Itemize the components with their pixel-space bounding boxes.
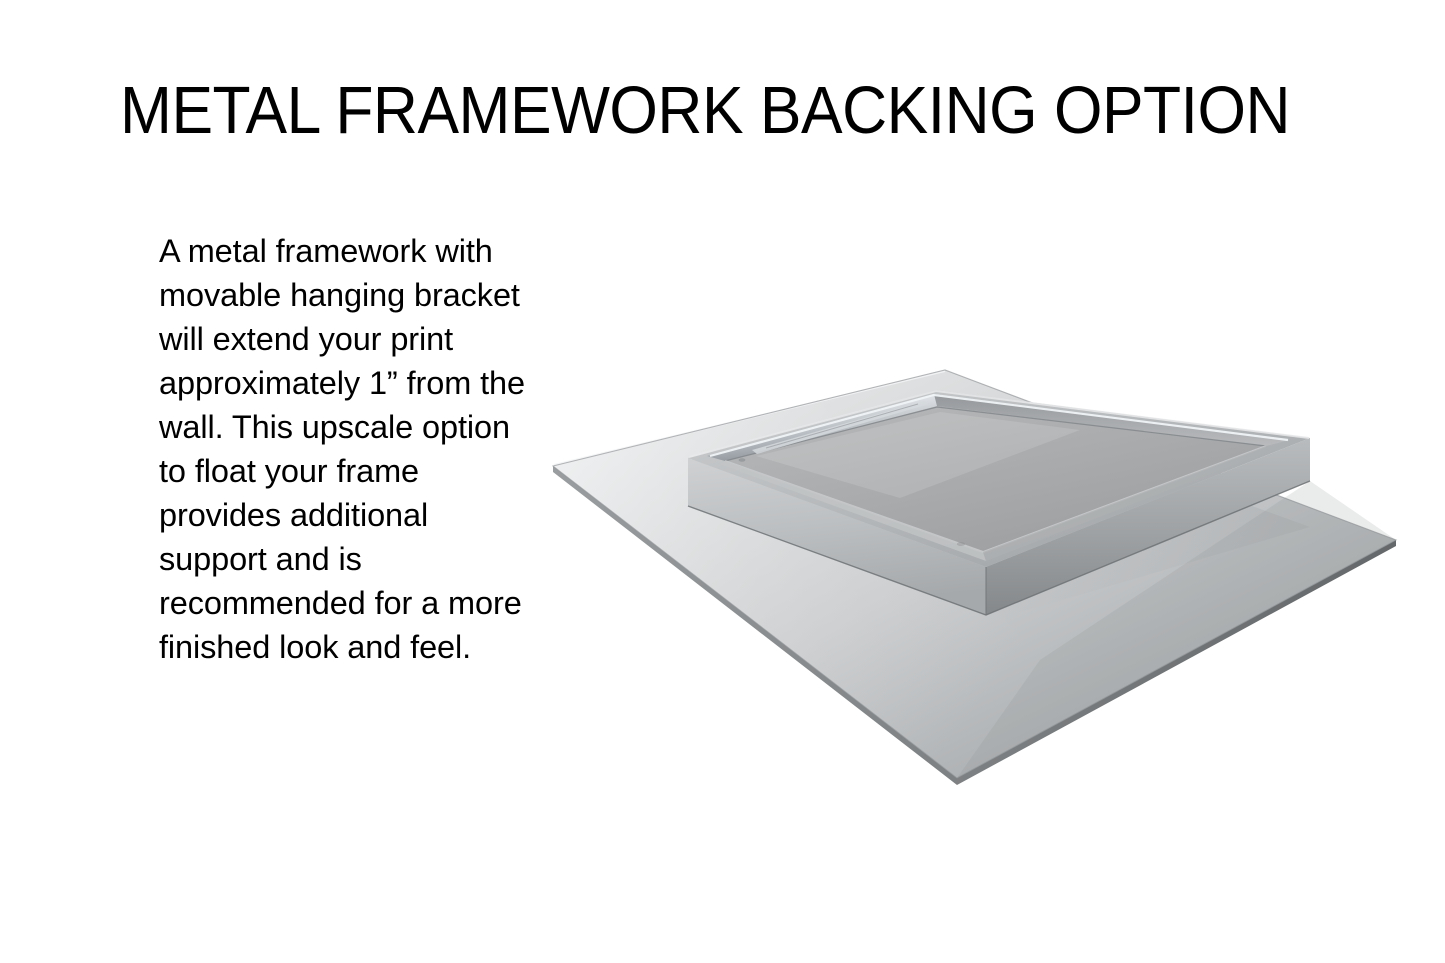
metal-framework-illustration xyxy=(520,330,1420,810)
body-paragraph: A metal framework with movable hanging b… xyxy=(159,229,531,669)
slide-canvas: METAL FRAMEWORK BACKING OPTION A metal f… xyxy=(0,0,1445,963)
body-text-block: A metal framework with movable hanging b… xyxy=(159,229,531,669)
page-title: METAL FRAMEWORK BACKING OPTION xyxy=(120,72,1245,150)
fastener-mark-right xyxy=(957,542,965,546)
product-image xyxy=(520,330,1420,810)
fastener-mark-left xyxy=(739,458,746,461)
